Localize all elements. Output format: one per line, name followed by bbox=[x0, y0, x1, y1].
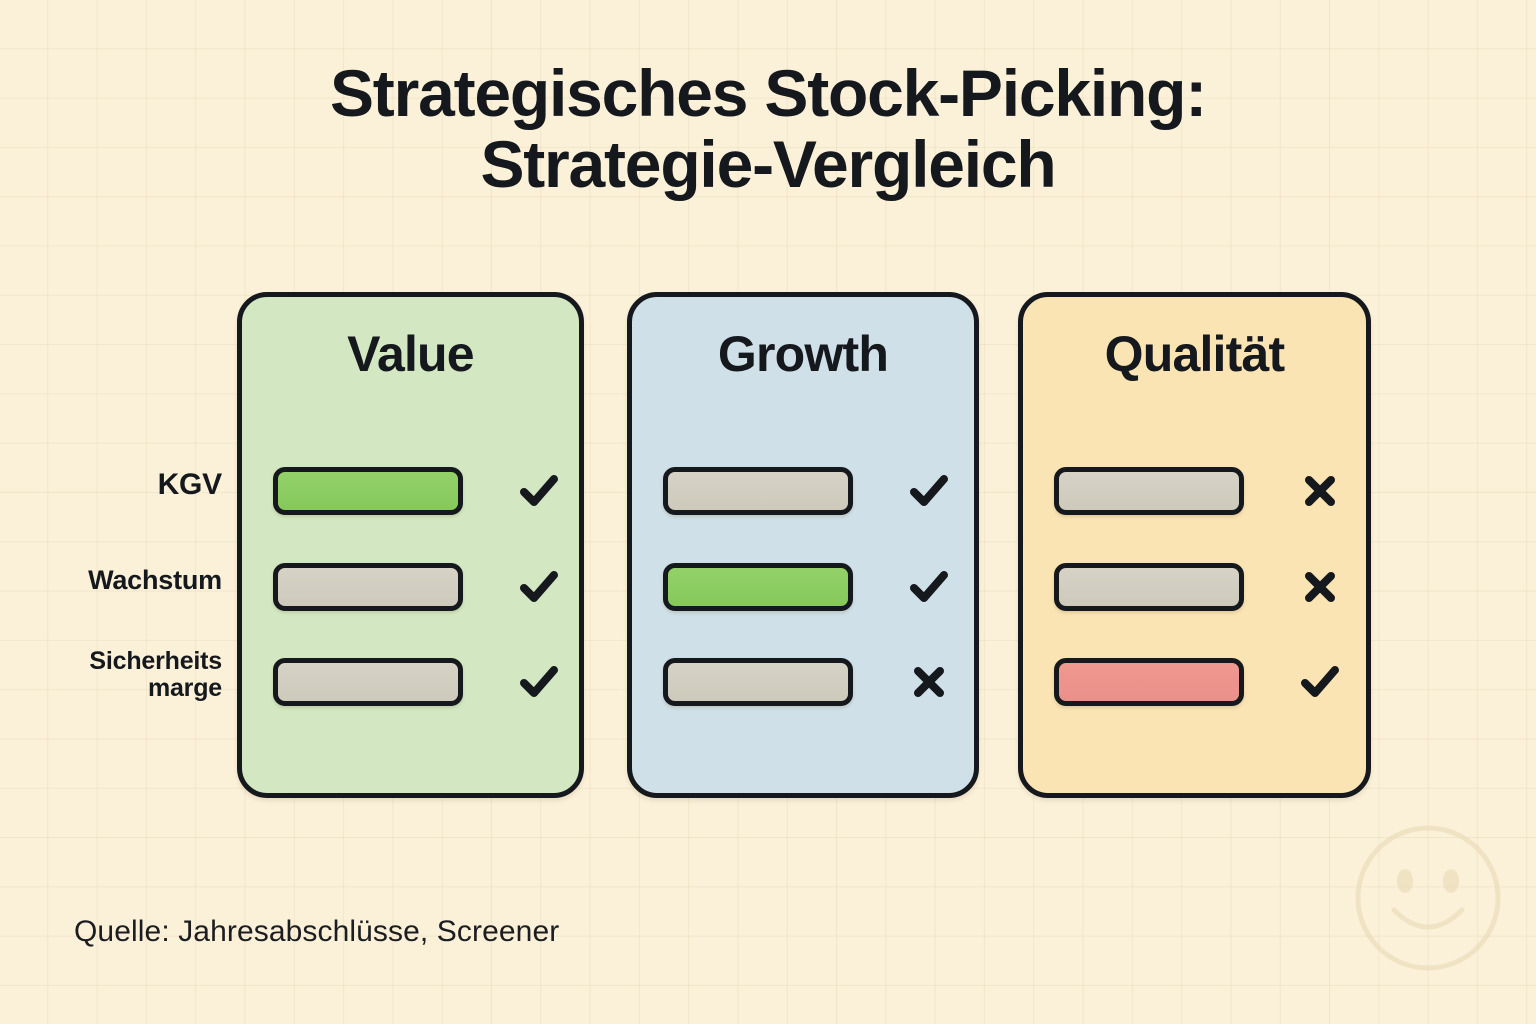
metric-bar-value-wachstum bbox=[273, 563, 463, 611]
strategy-card-value[interactable]: Value bbox=[237, 292, 584, 798]
row-label-sicherheitsmarge: Sicherheits marge bbox=[89, 648, 222, 701]
cross-icon bbox=[904, 657, 954, 707]
check-icon bbox=[1295, 657, 1345, 707]
smiley-face-watermark-icon bbox=[1348, 818, 1508, 978]
check-icon bbox=[514, 657, 564, 707]
row-label-text: Sicherheits bbox=[89, 648, 222, 675]
card-title-qualitaet: Qualität bbox=[1023, 325, 1366, 383]
card-title-growth: Growth bbox=[632, 325, 974, 383]
strategy-card-qualitaet[interactable]: Qualität bbox=[1018, 292, 1371, 798]
row-label-kgv: KGV bbox=[158, 469, 222, 501]
metric-bar-value-sicherheitsmarge bbox=[273, 658, 463, 706]
check-icon bbox=[514, 466, 564, 516]
check-icon bbox=[514, 562, 564, 612]
metric-bar-growth-wachstum bbox=[663, 563, 853, 611]
page-title-line-1: Strategisches Stock-Picking: bbox=[330, 56, 1206, 130]
metric-bar-qualitaet-kgv bbox=[1054, 467, 1244, 515]
metric-bar-qualitaet-wachstum bbox=[1054, 563, 1244, 611]
metric-bar-growth-kgv bbox=[663, 467, 853, 515]
cross-icon bbox=[1295, 562, 1345, 612]
row-label-text: KGV bbox=[158, 469, 222, 501]
row-label-column: KGV Wachstum Sicherheits marge bbox=[0, 0, 232, 1024]
cross-icon bbox=[1295, 466, 1345, 516]
metric-bar-growth-sicherheitsmarge bbox=[663, 658, 853, 706]
strategy-card-growth[interactable]: Growth bbox=[627, 292, 979, 798]
check-icon bbox=[904, 466, 954, 516]
card-title-value: Value bbox=[242, 325, 579, 383]
source-note: Quelle: Jahresabschlüsse, Screener bbox=[74, 915, 559, 949]
metric-bar-qualitaet-sicherheitsmarge bbox=[1054, 658, 1244, 706]
row-label-wachstum: Wachstum bbox=[88, 566, 222, 595]
infographic-canvas: Strategisches Stock-Picking: Strategie-V… bbox=[0, 0, 1536, 1024]
metric-bar-value-kgv bbox=[273, 467, 463, 515]
check-icon bbox=[904, 562, 954, 612]
row-label-text: Wachstum bbox=[88, 566, 222, 595]
row-label-text: marge bbox=[89, 675, 222, 702]
